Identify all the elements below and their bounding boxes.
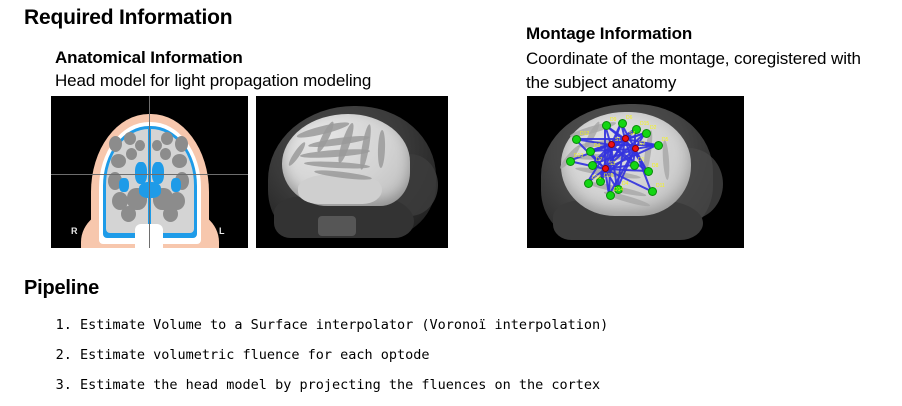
ventricle-horn xyxy=(171,178,181,192)
crosshair-vertical xyxy=(149,96,150,248)
mri-coronal-slice-image: R L xyxy=(51,96,248,248)
detector-optode xyxy=(643,130,650,137)
optode-label: D8 xyxy=(652,164,658,169)
optode-label: D6 xyxy=(626,116,632,121)
gyrus xyxy=(175,136,188,152)
channel-line xyxy=(604,125,606,169)
gyrus xyxy=(111,154,126,168)
optode-label: S4 xyxy=(629,132,635,137)
montage-information-heading: Montage Information xyxy=(526,24,692,44)
pipeline-steps-list: Estimate Volume to a Surface interpolato… xyxy=(42,310,608,400)
detector-optode xyxy=(585,180,592,187)
source-optode xyxy=(623,136,628,141)
optode-label: D15 xyxy=(640,122,649,127)
optode-label: D2 xyxy=(650,126,656,131)
gyrus xyxy=(172,154,187,168)
detector-optode xyxy=(649,188,656,195)
detector-optode xyxy=(587,148,594,155)
orientation-label-left: L xyxy=(219,226,225,236)
optode-label: D13 xyxy=(574,154,583,159)
optode-label: D5 xyxy=(662,138,668,143)
detector-optode xyxy=(619,120,626,127)
detector-optode xyxy=(573,136,580,143)
detector-optode xyxy=(631,162,638,169)
optode-label: S3 xyxy=(609,162,615,167)
pipeline-step-3: Estimate the head model by projecting th… xyxy=(80,370,608,400)
optode-label: S1 xyxy=(615,138,621,143)
cortical-surface-3d-image xyxy=(256,96,448,248)
optode-label: D12 xyxy=(580,132,589,137)
required-information-heading: Required Information xyxy=(24,6,232,30)
optode-label: D3 xyxy=(594,144,600,149)
lateral-ventricle xyxy=(152,162,164,184)
detector-optode xyxy=(645,168,652,175)
detector-optode xyxy=(567,158,574,165)
slide-root: Required Information Anatomical Informat… xyxy=(0,0,902,406)
source-optode xyxy=(609,142,614,147)
gyrus xyxy=(109,136,122,152)
pipeline-heading: Pipeline xyxy=(24,277,99,300)
optode-label: D7 xyxy=(596,158,602,163)
source-optode xyxy=(633,146,638,151)
lateral-ventricle xyxy=(135,162,147,184)
pipeline-step-1: Estimate Volume to a Surface interpolato… xyxy=(80,310,608,340)
gyrus xyxy=(126,148,137,160)
detector-optode xyxy=(655,142,662,149)
montage-information-subtitle: Coordinate of the montage, coregistered … xyxy=(526,47,886,95)
pipeline-step-2: Estimate volumetric fluence for each opt… xyxy=(80,340,608,370)
ventricle-horn xyxy=(119,178,129,192)
detector-optode xyxy=(589,162,596,169)
gyrus xyxy=(135,140,145,151)
optode-label: D10 xyxy=(604,174,613,179)
optode-label: D9 xyxy=(610,118,616,123)
optode-label: D14 xyxy=(614,188,623,193)
anatomical-information-subtitle: Head model for light propagation modelin… xyxy=(55,71,371,91)
detector-optode xyxy=(607,192,614,199)
optode-label: D16 xyxy=(592,176,601,181)
source-optode xyxy=(603,166,608,171)
anatomical-information-heading: Anatomical Information xyxy=(55,48,243,68)
optode-label: D11 xyxy=(656,184,665,189)
gyrus xyxy=(152,140,162,151)
optode-label: D1 xyxy=(638,158,644,163)
gyrus xyxy=(160,148,171,160)
montage-coregistration-image: D1D2D3D4D5D6D7D8D9D10D11D12D13D14D15D16S… xyxy=(527,96,744,248)
ear-region xyxy=(318,216,356,236)
detector-optode xyxy=(603,122,610,129)
gyrus xyxy=(161,132,173,145)
optode-label: S2 xyxy=(639,142,645,147)
orientation-label-right: R xyxy=(71,226,78,236)
